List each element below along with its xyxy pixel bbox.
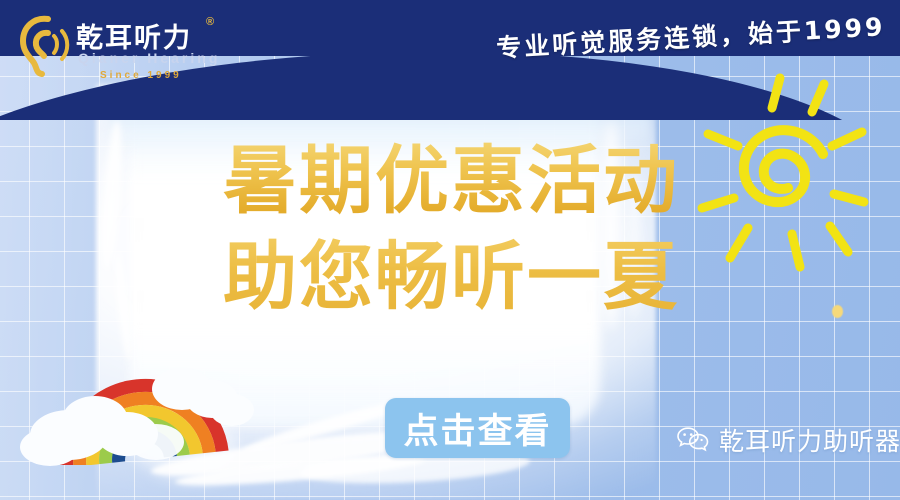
brand-name-en: Qianer Hearing — [78, 50, 220, 66]
cloud-icon — [128, 424, 184, 460]
registered-mark-icon: ® — [206, 16, 214, 28]
brand-since: Since 1999 — [100, 70, 182, 81]
ear-logo-icon — [18, 12, 74, 78]
cta-button[interactable]: 点击查看 — [385, 398, 570, 458]
cloud-icon — [210, 394, 254, 426]
headline-block: 暑期优惠活动 助您畅听一夏 — [205, 133, 697, 325]
brand-logo[interactable]: 乾耳听力 ® Qianer Hearing Since 1999 — [18, 8, 218, 86]
wechat-account-name: 乾耳听力助听器 — [719, 422, 900, 458]
wechat-icon — [676, 425, 710, 455]
headline-line-1: 暑期优惠活动 — [205, 133, 697, 229]
cloud-icon — [20, 428, 80, 466]
wechat-account[interactable]: 乾耳听力助听器 — [676, 420, 900, 460]
headline-line-2: 助您畅听一夏 — [205, 229, 697, 325]
promo-banner: 乾耳听力 ® Qianer Hearing Since 1999 专业听觉服务连… — [0, 0, 900, 500]
spiral-sun-icon — [722, 112, 842, 232]
cta-button-label: 点击查看 — [403, 403, 551, 454]
yellow-speck — [832, 305, 843, 318]
